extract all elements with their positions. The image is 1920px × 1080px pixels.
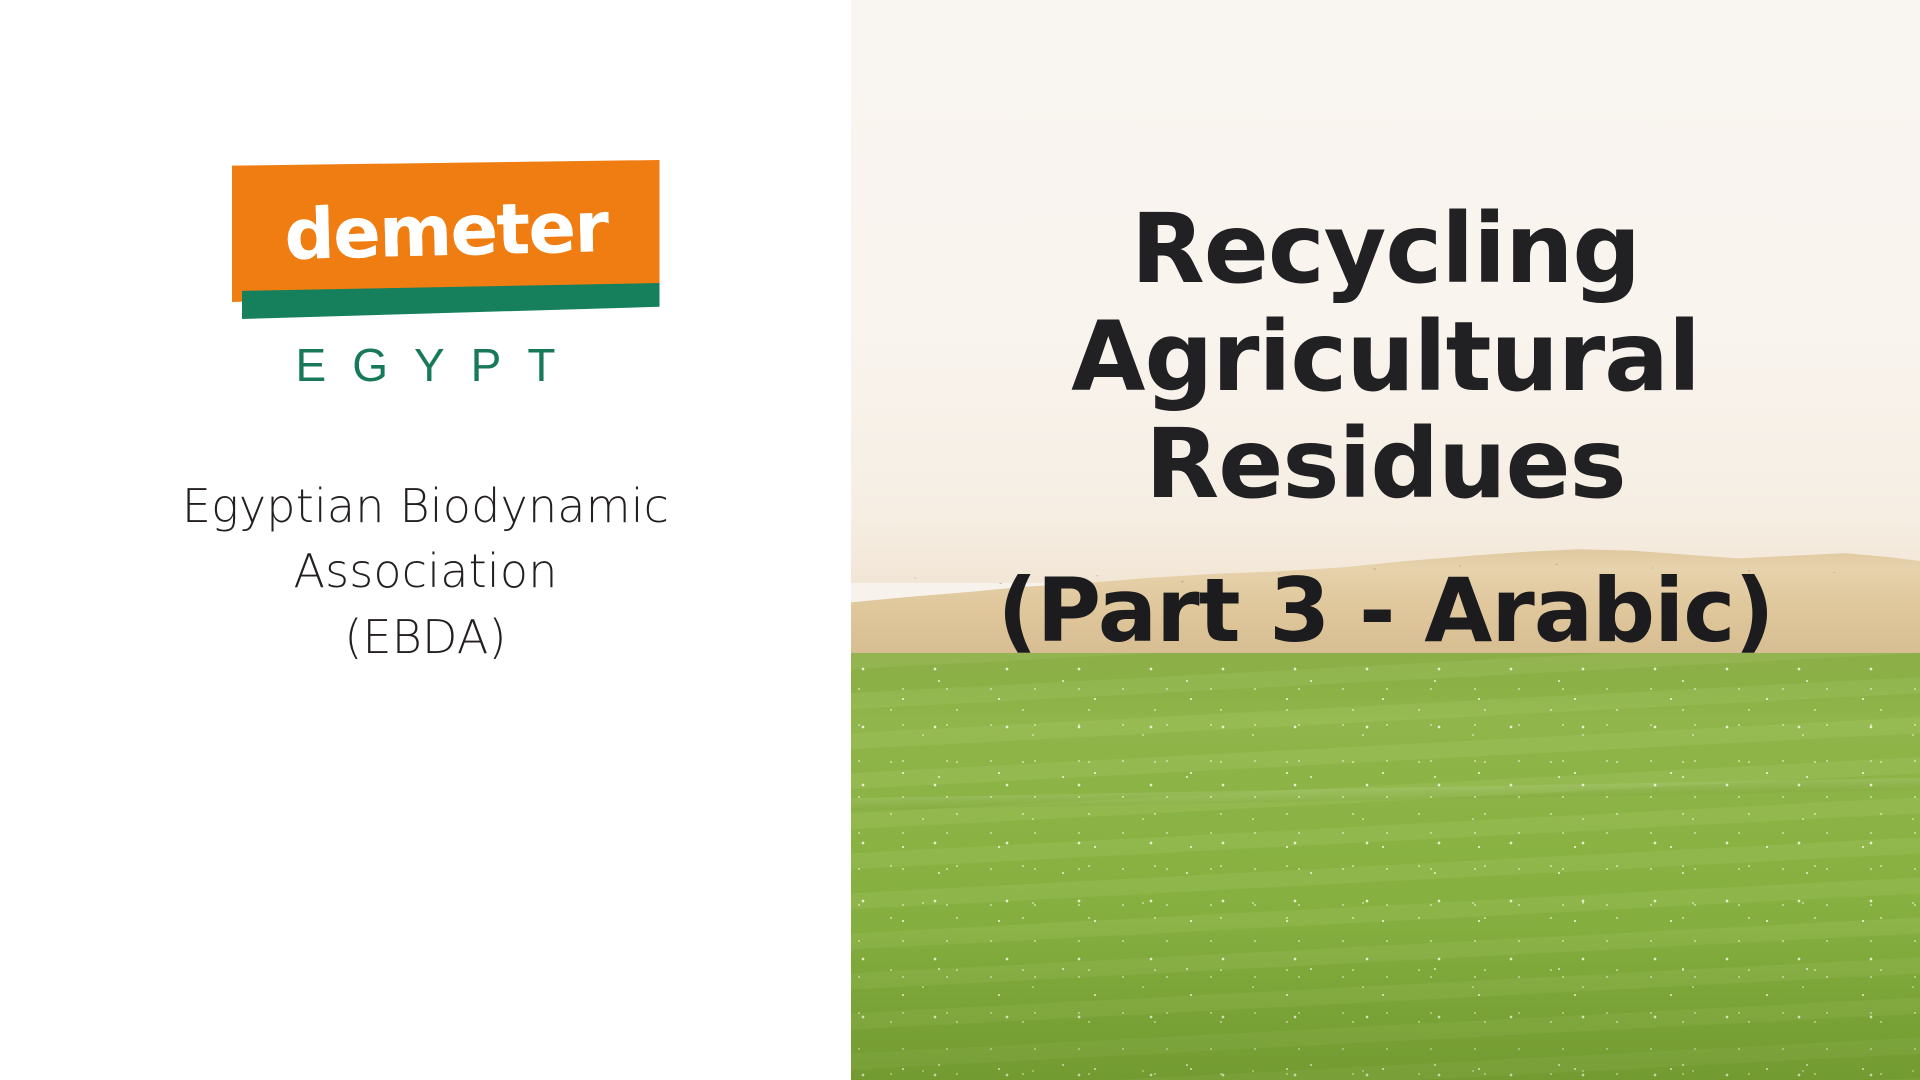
organization-name: Egyptian Biodynamic Association (EBDA) [76, 474, 776, 670]
left-branding-panel: demeter EGYPT Egyptian Biodynamic Associ… [0, 0, 851, 1080]
sky-background [851, 0, 1920, 583]
field-vignette [851, 929, 1920, 1080]
right-photo-panel: Recycling Agricultural Residues (Part 3 … [851, 0, 1920, 1080]
presentation-slide: demeter EGYPT Egyptian Biodynamic Associ… [0, 0, 1920, 1080]
organization-name-line-1: Egyptian Biodynamic [76, 474, 776, 539]
organization-name-line-3: (EBDA) [76, 605, 776, 670]
demeter-logo: demeter [186, 150, 666, 380]
dune-texture [851, 551, 1920, 596]
organization-name-line-2: Association [76, 539, 776, 604]
